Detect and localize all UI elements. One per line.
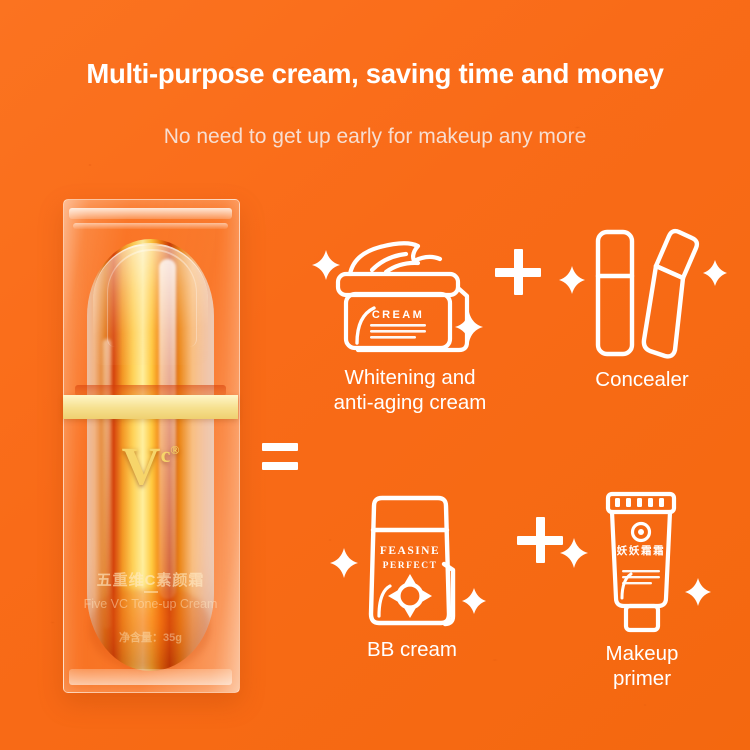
bb-bottle-subtext: PERFECT <box>383 561 438 571</box>
product-logo: Vc® <box>63 439 238 493</box>
sunburst-emblem-icon <box>388 574 432 618</box>
equals-bar-bottom <box>262 462 298 470</box>
item-caption: BB cream <box>322 637 502 662</box>
cream-jar-brand-text: CREAM <box>372 309 424 321</box>
plus-vertical-bar <box>536 517 545 563</box>
item-whitening-anti-aging-cream: CREAM Whitening and anti-aging cream <box>310 230 510 415</box>
equals-icon <box>262 443 298 471</box>
sparkle-icon <box>559 266 585 294</box>
name-divider <box>144 591 158 593</box>
logo-letter-v: V <box>122 436 161 496</box>
registered-trademark-icon: ® <box>170 443 179 457</box>
tube-logo-icon <box>633 524 650 541</box>
bb-bottle-brand-text: FEASINE <box>380 545 440 557</box>
box-bottom-edge <box>69 669 232 685</box>
bottle-cap-inner-highlight <box>107 249 197 347</box>
item-bb-cream: FEASINE PERFECT BB cream <box>322 492 502 662</box>
primer-tube-icon: 妖妖霜霜 <box>552 486 732 641</box>
item-makeup-primer: 妖妖霜霜 Makeup primer <box>552 486 732 691</box>
promo-banner: Multi-purpose cream, saving time and mon… <box>0 0 750 750</box>
item-caption: Whitening and anti-aging cream <box>310 365 510 415</box>
page-subtitle: No need to get up early for makeup any m… <box>0 125 750 149</box>
item-concealer: Concealer <box>552 224 732 392</box>
bb-cream-bottle-icon: FEASINE PERFECT <box>322 492 502 637</box>
product-net-weight: 净含量：35g <box>63 629 238 645</box>
sparkle-icon <box>703 260 727 286</box>
sparkle-icon <box>312 250 340 280</box>
gold-band <box>63 395 238 419</box>
box-inner-top-edge <box>73 223 228 229</box>
product-name-cn: 五重维C素颜霜 <box>63 569 238 590</box>
logo-letter-c: c <box>161 442 171 467</box>
sparkle-icon <box>560 538 588 568</box>
sparkle-icon <box>462 588 486 614</box>
product-package-photo: Vc® 五重维C素颜霜 Five VC Tone-up Cream 净含量：35… <box>63 199 238 691</box>
cream-jar-icon: CREAM <box>310 230 510 365</box>
concealer-sticks-icon <box>552 224 732 367</box>
page-title: Multi-purpose cream, saving time and mon… <box>0 58 750 90</box>
product-name-en: Five VC Tone-up Cream <box>63 597 238 612</box>
tube-brand-text: 妖妖霜霜 <box>617 544 665 557</box>
sparkle-icon <box>455 312 483 342</box>
equals-bar-top <box>262 443 298 451</box>
sparkle-icon <box>685 578 711 606</box>
box-top-edge <box>69 208 232 219</box>
sparkle-icon <box>330 548 358 578</box>
item-caption: Concealer <box>552 367 732 392</box>
plus-vertical-bar <box>514 249 523 295</box>
bottle-specular-highlight <box>159 259 176 599</box>
item-caption: Makeup primer <box>552 641 732 691</box>
